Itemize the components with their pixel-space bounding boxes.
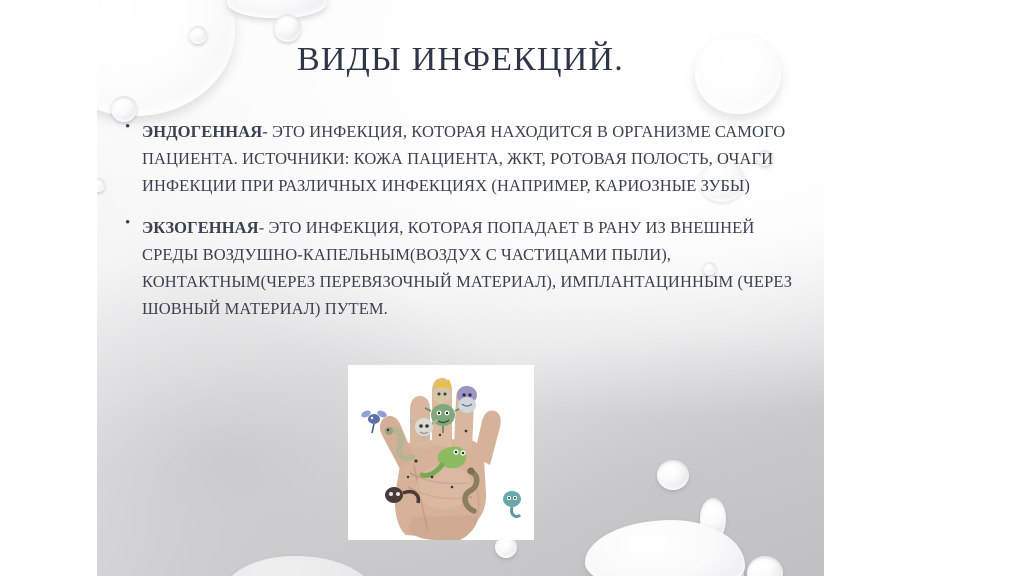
list-item-lead-term: ЭНДОГЕННАЯ	[142, 122, 262, 141]
water-drop-icon	[227, 0, 327, 18]
slide-title: ВИДЫ ИНФЕКЦИЙ.	[97, 40, 824, 80]
water-drop-icon	[274, 14, 301, 42]
list-item-text: ЭКЗОГЕННАЯ- ЭТО ИНФЕКЦИЯ, КОТОРАЯ ПОПАДА…	[142, 214, 797, 322]
presentation-slide: ВИДЫ ИНФЕКЦИЙ. • ЭНДОГЕННАЯ- ЭТО ИНФЕКЦИ…	[97, 0, 824, 576]
hand-with-germs-illustration	[348, 365, 534, 540]
water-drop-icon	[223, 556, 373, 576]
list-item: • ЭНДОГЕННАЯ- ЭТО ИНФЕКЦИЯ, КОТОРАЯ НАХО…	[125, 118, 797, 199]
hand-with-germs-photo	[348, 365, 534, 540]
water-drop-icon	[97, 178, 105, 192]
list-item-text: ЭНДОГЕННАЯ- ЭТО ИНФЕКЦИЯ, КОТОРАЯ НАХОДИ…	[142, 118, 797, 199]
slide-body: • ЭНДОГЕННАЯ- ЭТО ИНФЕКЦИЯ, КОТОРАЯ НАХО…	[125, 118, 797, 337]
list-item-lead-term: ЭКЗОГЕННАЯ	[142, 218, 259, 237]
water-drop-icon	[747, 556, 783, 576]
germ-purple-icon	[457, 386, 477, 413]
list-item: • ЭКЗОГЕННАЯ- ЭТО ИНФЕКЦИЯ, КОТОРАЯ ПОПА…	[125, 214, 797, 322]
bullet-marker-icon: •	[125, 118, 142, 127]
screenshot-canvas: ВИДЫ ИНФЕКЦИЙ. • ЭНДОГЕННАЯ- ЭТО ИНФЕКЦИ…	[0, 0, 1024, 576]
bullet-marker-icon: •	[125, 214, 142, 223]
water-drop-icon	[657, 460, 689, 490]
